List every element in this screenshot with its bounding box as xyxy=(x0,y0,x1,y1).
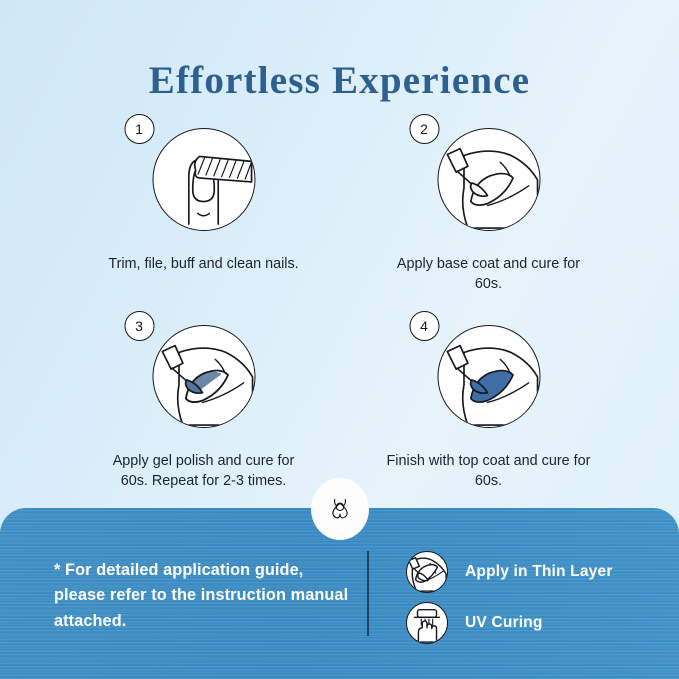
thin-layer-brush-icon xyxy=(406,551,448,593)
base-coat-brush-icon xyxy=(437,128,540,231)
step-illustration-4: 4 xyxy=(381,325,596,437)
steps-grid: 1 xyxy=(96,128,596,492)
step-caption-1: Trim, file, buff and clean nails. xyxy=(96,254,311,274)
step-illustration-2: 2 xyxy=(381,128,596,240)
step-illustration-3: 3 xyxy=(96,325,311,437)
step-item-4: 4 xyxy=(381,325,596,492)
step-caption-2: Apply base coat and cure for 60s. xyxy=(381,254,596,295)
feature-label-uv-curing: UV Curing xyxy=(465,614,543,632)
steps-row-1: 1 xyxy=(96,128,596,295)
step-illustration-1: 1 xyxy=(96,128,311,240)
gel-polish-brush-icon xyxy=(152,325,255,428)
step-item-1: 1 xyxy=(96,128,311,295)
step-number-badge-1: 1 xyxy=(124,114,154,144)
nail-file-icon xyxy=(152,128,255,231)
feature-item-uv-curing: UV Curing xyxy=(406,600,613,646)
step-item-2: 2 xyxy=(381,128,596,295)
step-caption-4: Finish with top coat and cure for 60s. xyxy=(381,451,596,492)
step-item-3: 3 xyxy=(96,325,311,492)
page-title: Effortless Experience xyxy=(0,58,679,103)
steps-row-2: 3 xyxy=(96,325,596,492)
application-guide-note: * For detailed application guide, please… xyxy=(54,558,354,634)
feature-list: Apply in Thin Layer xyxy=(406,549,613,651)
looped-knot-emblem-icon xyxy=(311,478,369,540)
step-caption-3: Apply gel polish and cure for 60s. Repea… xyxy=(96,451,311,492)
panel-divider xyxy=(367,551,369,636)
feature-item-thin-layer: Apply in Thin Layer xyxy=(406,549,613,595)
top-coat-brush-icon xyxy=(437,325,540,428)
step-number-badge-2: 2 xyxy=(409,114,439,144)
step-number-badge-3: 3 xyxy=(124,311,154,341)
promo-infographic: Effortless Experience 1 xyxy=(0,0,679,679)
step-number-badge-4: 4 xyxy=(409,311,439,341)
feature-label-thin-layer: Apply in Thin Layer xyxy=(465,563,613,581)
uv-lamp-icon xyxy=(406,602,448,644)
